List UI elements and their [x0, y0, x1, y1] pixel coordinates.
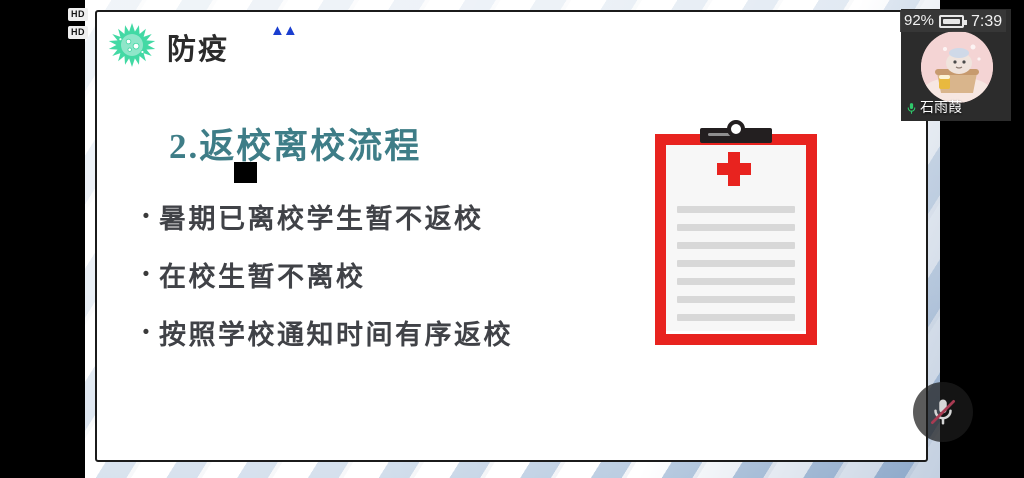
clipboard-text-line [677, 278, 795, 285]
clipboard-ring-icon [727, 120, 745, 138]
presentation-slide[interactable]: 防疫 ▲▲ 2.返校离校流程 • 暑期已离校学生暂不返校 • 在校生暂不离校 •… [95, 10, 928, 462]
clipboard-text-line [677, 206, 795, 213]
screen-root: 防疫 ▲▲ 2.返校离校流程 • 暑期已离校学生暂不返校 • 在校生暂不离校 •… [0, 0, 1024, 478]
virus-icon [103, 16, 161, 74]
bullet-text: 暑期已离校学生暂不返校 [159, 197, 484, 236]
letterbox-bar-left [0, 0, 85, 478]
text-cursor-block [234, 162, 257, 183]
bullet-marker-icon: • [133, 207, 159, 226]
red-cross-icon-bar [717, 163, 751, 175]
header-tickmark-icon: ▲▲ [270, 26, 288, 36]
hd-badge: HD [68, 8, 88, 21]
clipboard-text-line [677, 296, 795, 303]
list-item: • 暑期已离校学生暂不返校 [133, 187, 693, 245]
clipboard-text-line [677, 314, 795, 321]
hd-badge-group: HD HD [68, 8, 88, 39]
hd-badge: HD [68, 26, 88, 39]
clipboard-text-line [677, 224, 795, 231]
bullet-marker-icon: • [133, 323, 159, 342]
slide-header-title: 防疫 [167, 26, 229, 68]
self-view-name-row: 石雨葭 [905, 101, 962, 116]
participant-name: 石雨葭 [920, 101, 962, 116]
bullet-text: 按照学校通知时间有序返校 [159, 313, 513, 352]
battery-percentage: 92% [904, 13, 934, 29]
battery-fill [943, 19, 960, 24]
microphone-on-icon [905, 101, 918, 116]
slide-bullet-list: • 暑期已离校学生暂不返校 • 在校生暂不离校 • 按照学校通知时间有序返校 [133, 187, 693, 361]
list-item: • 在校生暂不离校 [133, 245, 693, 303]
status-clock: 7:39 [971, 13, 1002, 30]
bullet-marker-icon: • [133, 265, 159, 284]
bullet-text: 在校生暂不离校 [159, 255, 366, 294]
status-bar: 92% 7:39 [900, 10, 1006, 32]
mute-toggle-button[interactable] [913, 382, 973, 442]
slide-header: 防疫 ▲▲ [103, 16, 229, 74]
medical-clipboard-illustration [655, 120, 817, 345]
battery-icon [939, 15, 964, 28]
clipboard-text-line [677, 260, 795, 267]
clipboard-text-line [677, 242, 795, 249]
avatar [921, 31, 993, 103]
cartoon-bath-avatar-icon [921, 31, 993, 103]
slide-title: 2.返校离校流程 [169, 118, 421, 169]
microphone-muted-icon [928, 396, 958, 428]
list-item: • 按照学校通知时间有序返校 [133, 303, 693, 361]
